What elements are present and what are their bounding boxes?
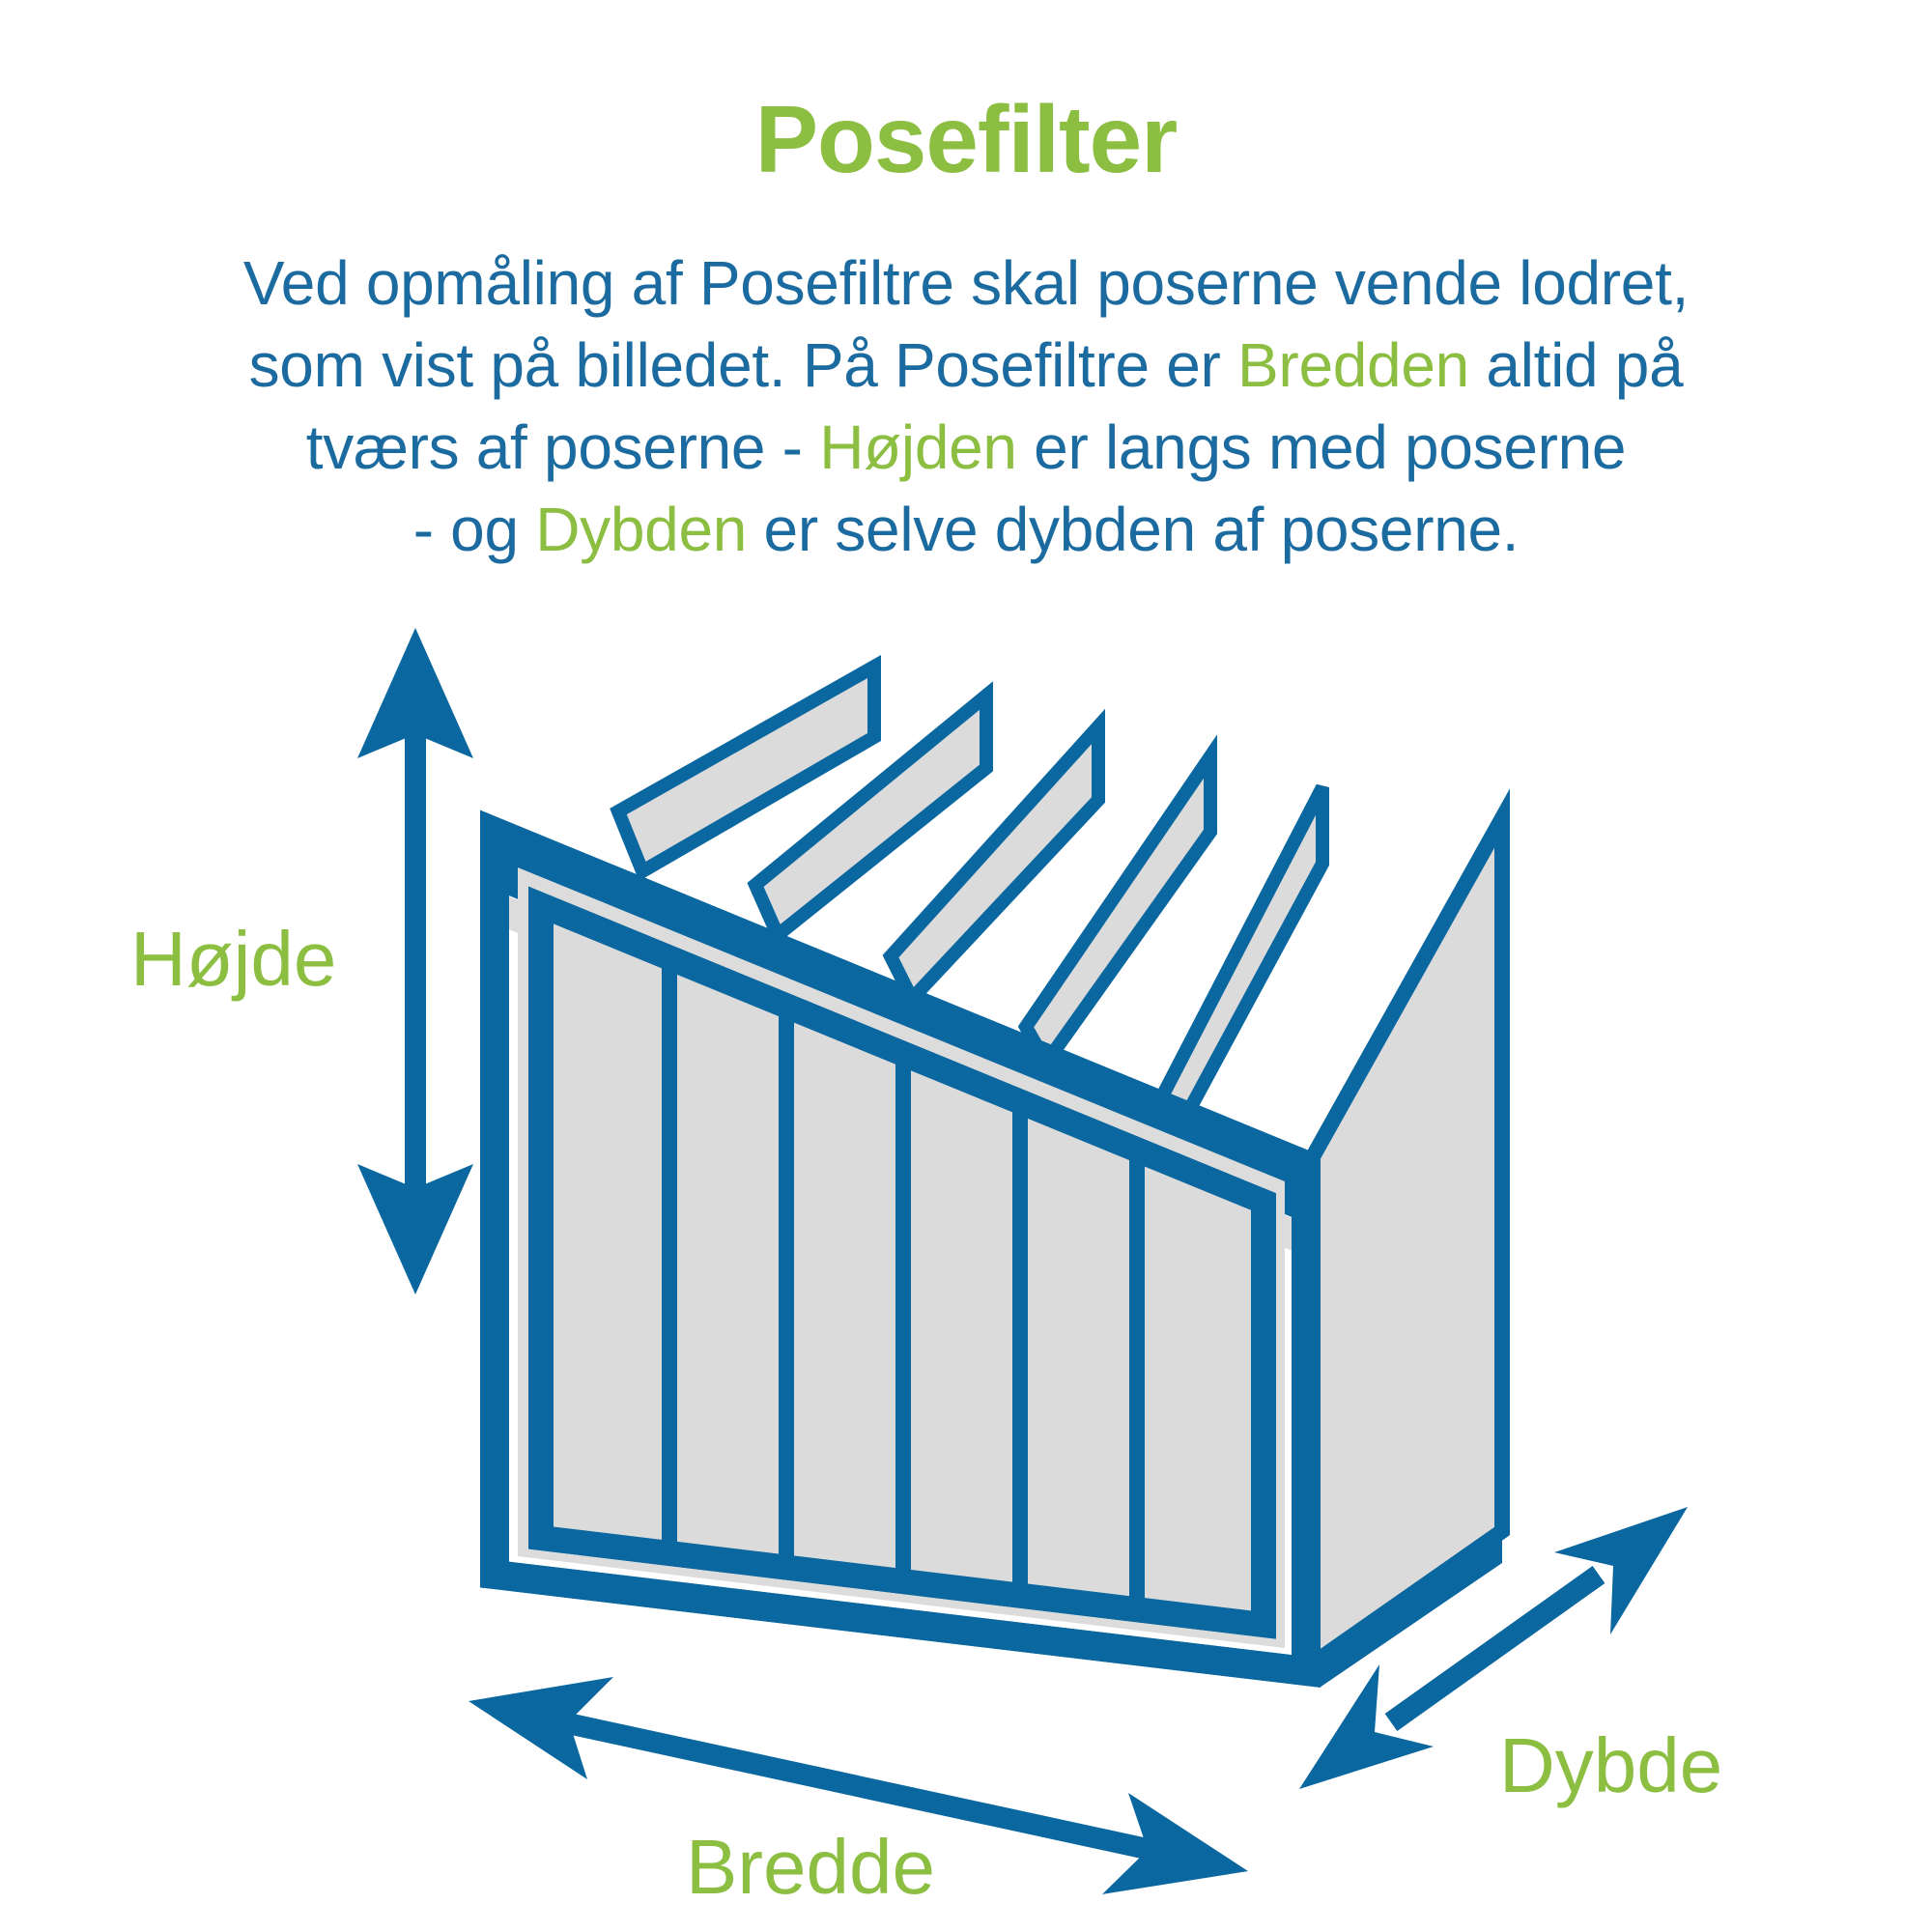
intro-line-4: - og Dybden er selve dybden af poserne. xyxy=(48,489,1884,571)
height-label: Højde xyxy=(130,916,336,1002)
bag-filter-diagram: Højde Bredde Dybde xyxy=(0,609,1932,1932)
height-arrow xyxy=(357,628,473,1294)
intro-paragraph: Ved opmåling af Posefiltre skal poserne … xyxy=(48,186,1884,571)
intro-line-4-text-b: er selve dybden af poserne. xyxy=(747,495,1519,564)
intro-highlight-hojden: Højden xyxy=(819,412,1017,482)
intro-line-1: Ved opmåling af Posefiltre skal poserne … xyxy=(48,242,1884,325)
page-root: Posefilter Ved opmåling af Posefiltre sk… xyxy=(0,0,1932,1932)
intro-highlight-dybden: Dybden xyxy=(535,495,747,564)
intro-line-3: tværs af poserne - Højden er langs med p… xyxy=(48,407,1884,489)
depth-arrow-head-upper-right xyxy=(1554,1507,1688,1634)
intro-line-2-text-b: altid på xyxy=(1469,330,1683,400)
intro-line-2: som vist på billedet. På Posefiltre er B… xyxy=(48,325,1884,407)
filter-side-panel xyxy=(1306,818,1502,1668)
intro-line-3-text-a: tværs af poserne - xyxy=(306,412,819,482)
bag-filter-svg: Højde Bredde Dybde xyxy=(0,609,1932,1932)
intro-line-1-text: Ved opmåling af Posefiltre skal poserne … xyxy=(243,248,1689,318)
depth-label: Dybde xyxy=(1499,1722,1722,1808)
filter-side-panel-group xyxy=(1306,818,1502,1668)
width-label: Bredde xyxy=(686,1824,935,1910)
intro-line-4-text-a: - og xyxy=(413,495,536,564)
header: Posefilter Ved opmåling af Posefiltre sk… xyxy=(0,0,1932,571)
intro-line-3-text-b: er langs med poserne xyxy=(1017,412,1627,482)
intro-line-2-text-a: som vist på billedet. På Posefiltre er xyxy=(249,330,1237,400)
page-title: Posefilter xyxy=(0,0,1932,186)
intro-highlight-bredden: Bredden xyxy=(1237,330,1469,400)
